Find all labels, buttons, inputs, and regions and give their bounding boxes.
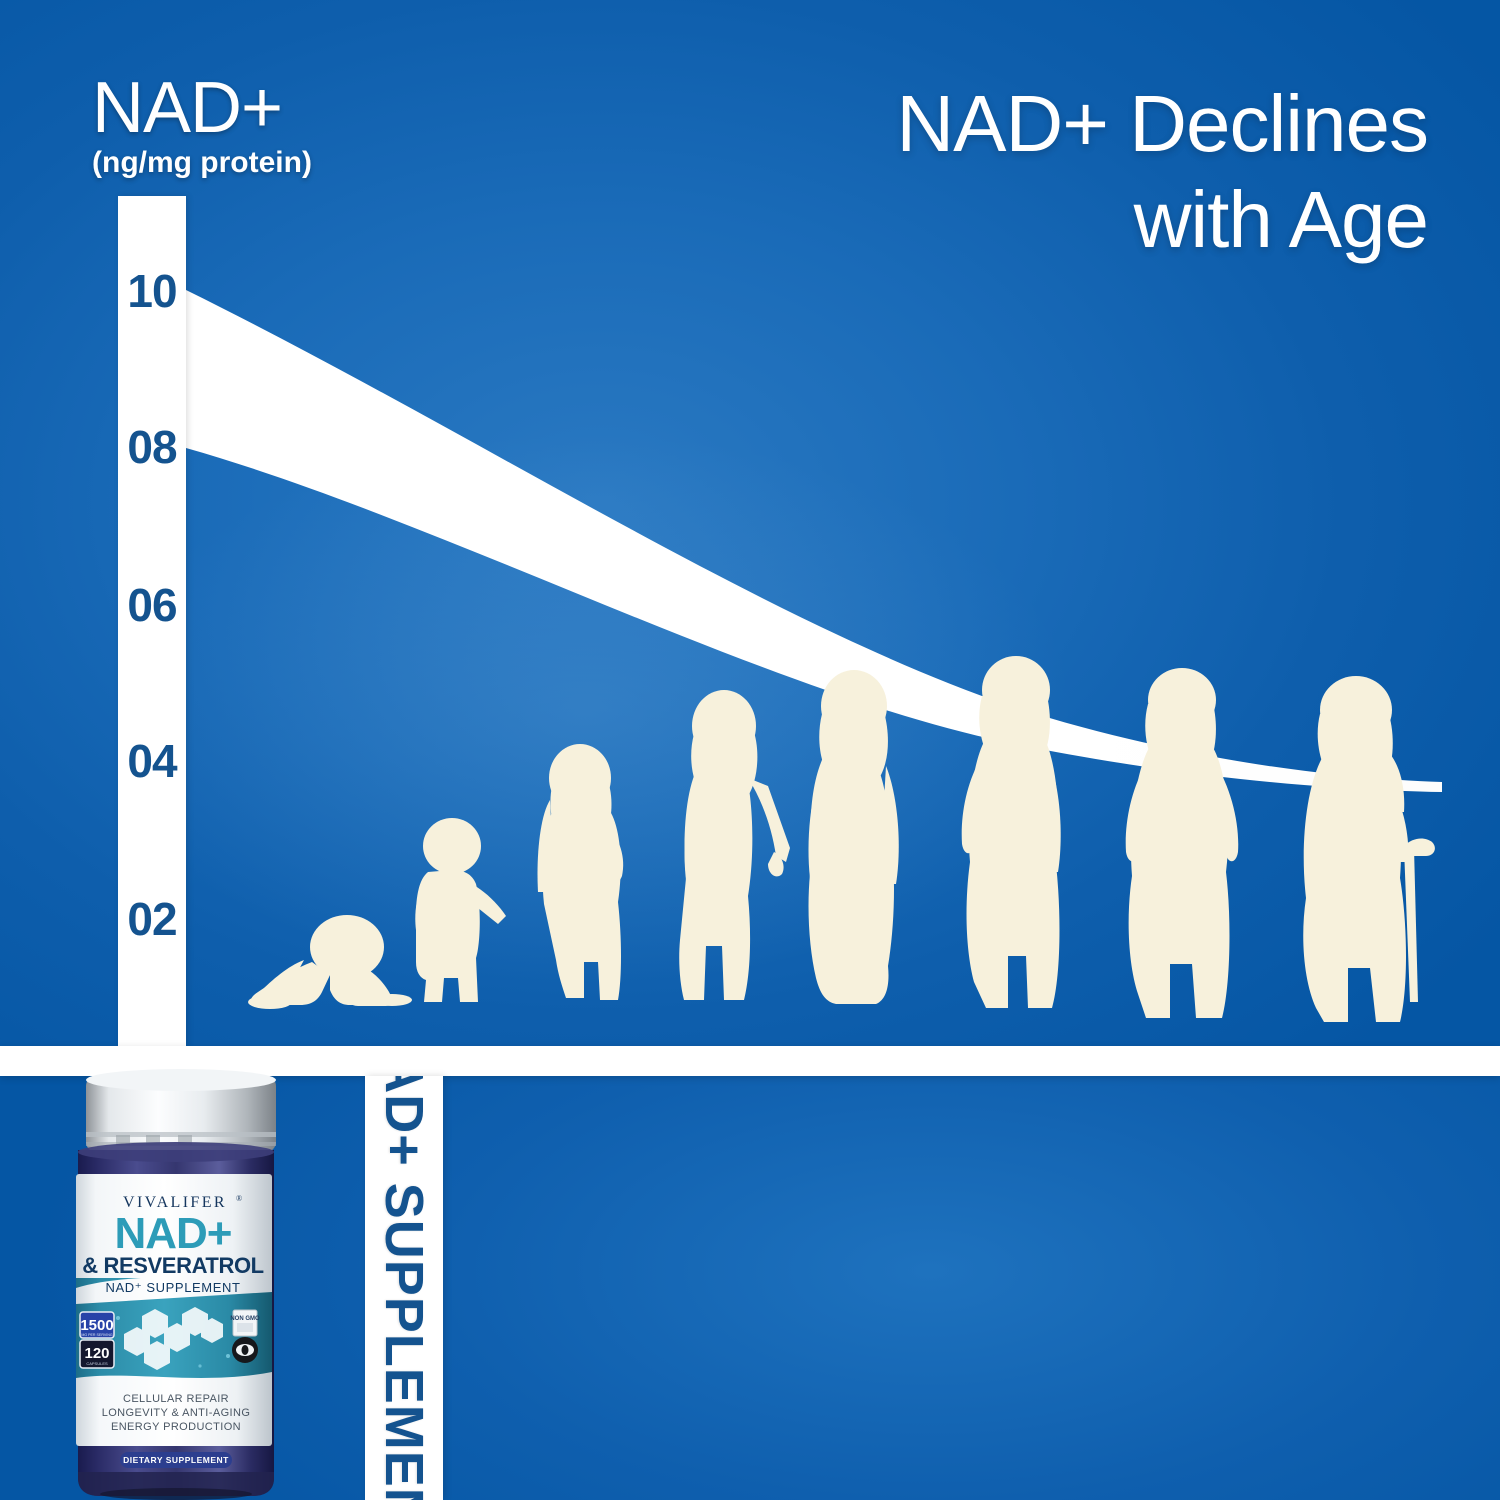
chart-title-line-2: with Age [708,172,1428,268]
bottle-product-sub: & RESVERATROL [82,1253,263,1278]
benefit-line-3: ENERGY PRODUCTION [111,1421,241,1433]
supplement-bottle[interactable]: VIVALIFER ® NAD+ & RESVERATROL NAD⁺ SUPP… [60,1066,310,1500]
vertical-label-text: NAD+ SUPPLEMENT [373,1076,435,1500]
bottle-product-name: NAD+ [114,1209,231,1258]
silhouette-elderly-with-cane [1303,676,1435,1022]
count-amount: 120 [84,1345,109,1362]
chart-panel: NAD+ (ng/mg protein) 10 08 06 04 02 NAD+… [0,0,1500,1046]
silhouette-teen [679,690,790,1000]
y-tick-04: 04 [120,738,184,784]
y-tick-08: 08 [120,424,184,470]
y-tick-02: 02 [120,896,184,942]
y-axis-title-group: NAD+ (ng/mg protein) [92,72,352,180]
chart-title-line-1: NAD+ Declines [708,76,1428,172]
chart-title-group: NAD+ Declines with Age [708,76,1428,268]
dose-badge: 1500 MG PER SERVING [80,1312,114,1338]
count-unit: CAPSULES [86,1361,108,1366]
silhouette-child [538,744,624,1000]
dietary-supplement-label: DIETARY SUPPLEMENT [123,1455,229,1465]
silhouette-toddler [415,818,506,1002]
bottle-brand-trademark: ® [236,1194,242,1203]
count-badge: 120 CAPSULES [80,1340,114,1368]
y-axis-units: (ng/mg protein) [92,146,352,180]
vertical-label-bar: NAD+ SUPPLEMENT [365,1076,443,1500]
cert-badge-1-label: NON GMO [230,1316,260,1322]
benefit-line-1: CELLULAR REPAIR [123,1393,229,1405]
cert-badge-non-gmo: NON GMO [230,1310,260,1336]
silhouette-crawling-baby [248,915,412,1009]
benefit-line-2: LONGEVITY & ANTI-AGING [102,1407,251,1419]
silhouette-young-adult [809,670,899,1004]
bottle-cap [86,1069,276,1152]
cert-badge-gmp [232,1337,258,1363]
y-axis-title: NAD+ [92,72,352,144]
y-tick-06: 06 [120,582,184,628]
dose-amount: 1500 [80,1317,113,1334]
dietary-supplement-badge: DIETARY SUPPLEMENT [120,1452,232,1468]
silhouette-adult [962,656,1061,1008]
y-axis-bar: 10 08 06 04 02 [118,196,186,1046]
bottle-product-tagline: NAD⁺ SUPPLEMENT [105,1280,240,1295]
silhouette-middle-aged-adult [1126,668,1239,1018]
dose-unit: MG PER SERVING [81,1333,112,1337]
y-tick-10: 10 [120,268,184,314]
